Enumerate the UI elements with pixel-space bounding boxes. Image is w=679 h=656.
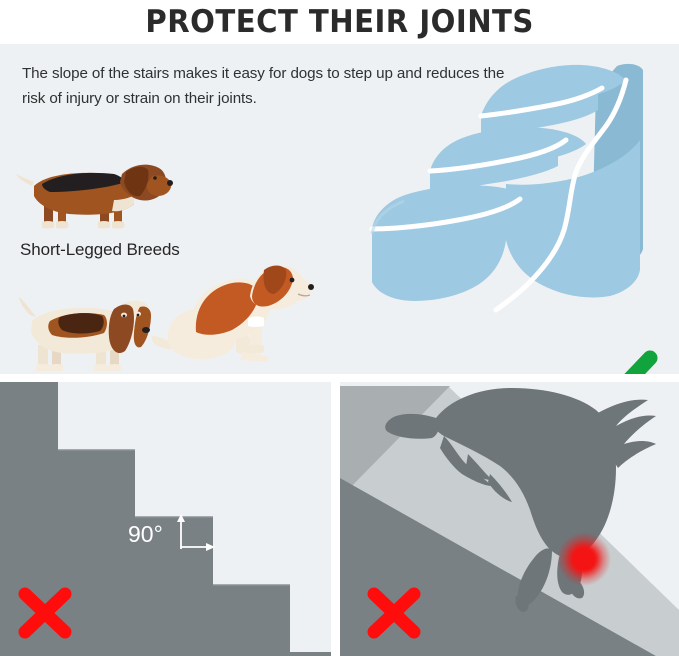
- red-x-icon: [365, 586, 423, 640]
- green-check-icon: [584, 350, 660, 374]
- injured-dog-illustration: [150, 256, 322, 374]
- red-x-icon: [16, 586, 74, 640]
- bottom-panels-gap: [331, 382, 340, 656]
- angle-label: 90°: [128, 521, 163, 548]
- benefits-panel: The slope of the stairs makes it easy fo…: [0, 44, 679, 374]
- section-divider: [0, 374, 679, 382]
- senior-dog-illustration: [12, 287, 152, 374]
- page-title: PROTECT THEIR JOINTS: [145, 7, 533, 38]
- header: PROTECT THEIR JOINTS: [0, 0, 679, 44]
- short-legged-dog-illustration: [14, 152, 174, 236]
- bad-example-stairs-panel: [0, 382, 331, 656]
- pet-stairs-illustration: [330, 44, 679, 344]
- bad-example-ramp-panel: [340, 382, 679, 656]
